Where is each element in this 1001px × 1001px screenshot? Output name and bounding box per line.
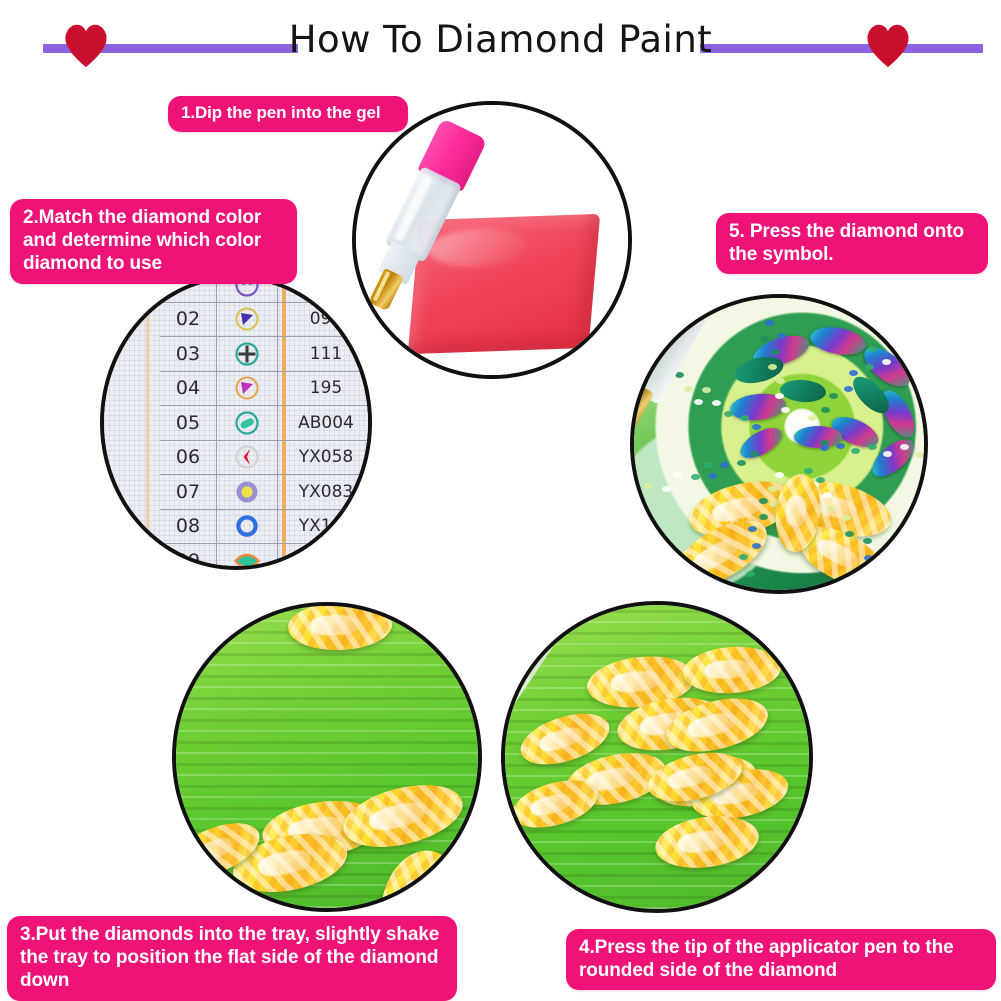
infographic-canvas: How To Diamond Paint 02002 09303 11104 1… — [0, 0, 1001, 1001]
chart-row-code: AB004 — [278, 406, 372, 440]
printed-symbol-dot — [820, 445, 829, 451]
chart-row-code: YX106 — [278, 510, 372, 544]
printed-symbol-dot — [768, 486, 777, 492]
printed-symbol-dot — [759, 498, 768, 504]
printed-symbol-dot — [844, 386, 853, 392]
photo-step-2-color-chart: 02002 09303 11104 19505 AB00406 YX05807Y… — [100, 275, 372, 570]
printed-symbol-dot — [804, 468, 813, 474]
printed-symbol-dot — [823, 492, 832, 498]
step-4-label: 4.Press the tip of the applicator pen to… — [566, 929, 996, 990]
printed-symbol-dot — [868, 444, 877, 450]
printed-symbol-dot — [865, 364, 874, 370]
color-chart-row: 05 AB004 — [160, 406, 372, 441]
printed-symbol-dot — [883, 451, 892, 457]
printed-symbol-dot — [842, 515, 851, 521]
color-chart-row: 09YX125 — [160, 544, 372, 570]
printed-symbol-dot — [704, 462, 713, 468]
marquise-leaf-icon — [217, 544, 278, 570]
photo-step-5-press-diamond — [630, 294, 928, 594]
diamond — [287, 602, 393, 652]
chart-row-code: YX125 — [278, 544, 372, 570]
chart-row-number: 06 — [160, 441, 217, 475]
printed-symbol-dot — [737, 460, 746, 466]
triangle-icon — [217, 303, 278, 337]
chart-row-number: 08 — [160, 510, 217, 544]
color-chart-table: 02002 09303 11104 19505 AB00406 YX05807Y… — [160, 275, 372, 570]
color-chart-row: 04 195 — [160, 372, 372, 407]
printed-symbol-dot — [771, 349, 780, 355]
chart-row-number: 05 — [160, 406, 217, 440]
color-chart-row: 06 YX058 — [160, 441, 372, 476]
printed-symbol-dot — [863, 538, 872, 544]
step-1-label: 1.Dip the pen into the gel — [168, 96, 408, 132]
printed-symbol-dot — [691, 474, 700, 480]
printed-symbol-dot — [884, 560, 893, 566]
printed-symbol-dot — [708, 473, 717, 479]
printed-symbol-dot — [868, 346, 877, 352]
chart-row-number: 02 — [160, 303, 217, 337]
ring-icon — [217, 510, 278, 544]
step-2-label: 2.Match the diamond color and determine … — [10, 199, 297, 284]
printed-symbol-dot — [775, 393, 784, 399]
header: How To Diamond Paint — [0, 0, 1001, 90]
printed-symbol-dot — [849, 370, 858, 376]
chart-row-code: 111 — [278, 337, 372, 371]
printed-symbol-dot — [760, 336, 769, 342]
color-chart-row: 03 111 — [160, 337, 372, 372]
printed-symbol-dot — [781, 407, 790, 413]
printed-symbol-dot — [900, 444, 909, 450]
color-chart-row: 07YX083 — [160, 475, 372, 510]
chart-row-number: 03 — [160, 337, 217, 371]
chart-row-number: 09 — [160, 544, 217, 570]
triangle-icon — [217, 372, 278, 406]
printed-symbol-dot — [829, 393, 838, 399]
donut-icon — [217, 475, 278, 509]
printed-symbol-dot — [882, 359, 891, 365]
diamond-on-tip — [772, 472, 824, 554]
chart-row-code: 093 — [278, 303, 372, 337]
color-chart-row: 08YX106 — [160, 510, 372, 545]
chart-row-code: YX058 — [278, 441, 372, 475]
photo-step-4-pick-diamond — [501, 601, 813, 913]
chart-row-code: 195 — [278, 372, 372, 406]
page-title: How To Diamond Paint — [0, 18, 1001, 61]
color-chart-row: 02 093 — [160, 303, 372, 338]
pen-metal-tip — [368, 268, 404, 311]
printed-symbol-dot — [765, 320, 774, 326]
printed-symbol-dot — [845, 531, 854, 537]
iridescent-diamond — [794, 426, 842, 448]
step-3-label: 3.Put the diamonds into the tray, slight… — [7, 916, 457, 1001]
printed-symbol-dot — [864, 555, 873, 561]
plus-icon — [217, 337, 278, 371]
chart-row-code: YX083 — [278, 475, 372, 509]
arrow-left-icon — [217, 441, 278, 475]
photo-step-3-diamonds-in-tray — [172, 602, 482, 912]
chart-row-number: 04 — [160, 372, 217, 406]
printed-symbol-dot — [752, 543, 761, 549]
diamond — [682, 644, 783, 697]
printed-symbol-dot — [740, 415, 749, 421]
chart-margin-line-left — [146, 279, 149, 566]
printed-symbol-dot — [768, 364, 777, 370]
capsule-icon — [217, 406, 278, 440]
photo-step-1-dip-pen — [352, 101, 632, 379]
step-5-label: 5. Press the diamond onto the symbol. — [716, 213, 988, 274]
chart-row-number: 07 — [160, 475, 217, 509]
